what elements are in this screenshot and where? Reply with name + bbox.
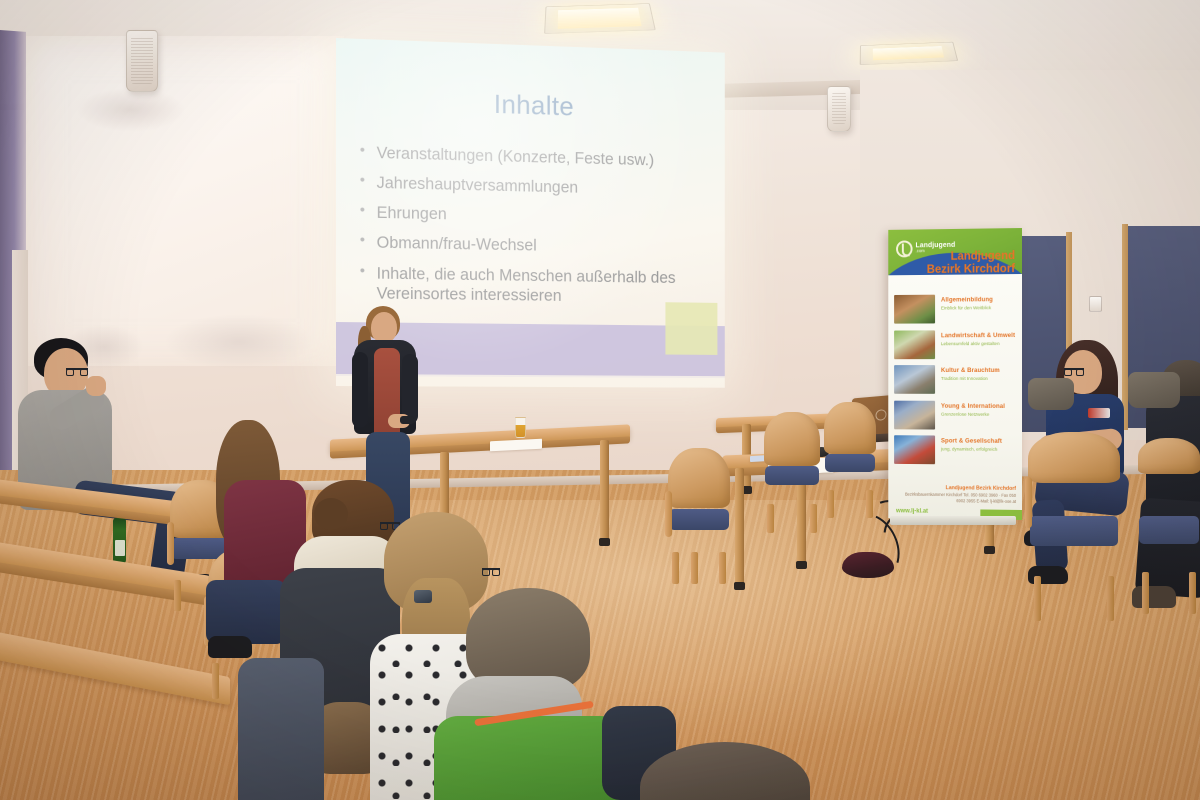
ceiling-light-right bbox=[860, 42, 958, 65]
photo-group-thumb bbox=[894, 400, 935, 429]
chair[interactable] bbox=[668, 448, 730, 556]
chair-legs bbox=[672, 552, 727, 584]
photo-scene: Inhalte Veranstaltungen (Konzerte, Feste… bbox=[0, 0, 1200, 800]
chair[interactable] bbox=[1138, 438, 1200, 578]
slide-bullet: Inhalte, die auch Menschen außerhalb des… bbox=[358, 263, 714, 308]
backpack bbox=[1028, 378, 1074, 410]
chair-back bbox=[1028, 432, 1120, 483]
slide-bullet: Veranstaltungen (Konzerte, Feste usw.) bbox=[358, 143, 714, 172]
light-switch[interactable] bbox=[1089, 296, 1102, 312]
banner-category-row: Allgemeinbildung Einblick für den Weitbl… bbox=[894, 294, 1017, 324]
photo-mountains-thumb bbox=[894, 365, 935, 394]
hair-bun bbox=[314, 498, 348, 530]
light-tube bbox=[873, 46, 944, 60]
glasses-icon bbox=[1064, 368, 1084, 370]
bottom-person-hair bbox=[640, 742, 810, 800]
banner-category-row: Young & International Grenzenlose Netzwe… bbox=[894, 400, 1017, 429]
chair-back bbox=[1138, 438, 1200, 474]
banner-website: www.lj-kl.at bbox=[896, 508, 928, 514]
wall-speaker-right bbox=[827, 86, 851, 132]
slide-bullet: Ehrungen bbox=[358, 203, 714, 230]
chair-back bbox=[764, 412, 820, 466]
banner-category-subtitle: Tradition mit Innovation bbox=[941, 376, 1000, 381]
photo-children-thumb bbox=[894, 295, 935, 324]
banner-category-subtitle: jung, dynamisch, erfolgreich bbox=[941, 447, 1002, 453]
slide-bullet: Jahreshauptversammlungen bbox=[358, 173, 714, 201]
banner-category-subtitle: Grenzenlose Netzwerke bbox=[941, 411, 1005, 417]
chair-arm bbox=[665, 491, 672, 536]
ceiling-light-left bbox=[544, 3, 656, 34]
backpack bbox=[1128, 372, 1180, 408]
chair-legs bbox=[767, 504, 816, 533]
chair-legs bbox=[1142, 572, 1197, 614]
banner-base-stand bbox=[890, 516, 1016, 525]
chair-seat bbox=[1139, 516, 1199, 544]
woman-shoe bbox=[208, 636, 252, 658]
glasses-icon bbox=[66, 368, 88, 370]
banner-footer-address: Bezirksbauernkammer Kirchdorf Tel. 050 6… bbox=[896, 492, 1016, 504]
presenter-top bbox=[374, 348, 400, 444]
slide-bullet: Obmann/frau-Wechsel bbox=[358, 233, 714, 259]
woman-jeans bbox=[206, 580, 286, 644]
grey-coat-on-chair bbox=[238, 658, 324, 800]
presenter-clicker[interactable] bbox=[400, 416, 414, 424]
banner-title: Landjugend Bezirk Kirchdorf bbox=[924, 250, 1015, 277]
chair[interactable] bbox=[764, 412, 820, 508]
chair-seat bbox=[765, 466, 819, 485]
banner-category-heading: Kultur & Brauchtum bbox=[941, 368, 1000, 375]
slide-accent-square bbox=[665, 302, 717, 355]
banner-category-row: Kultur & Brauchtum Tradition mit Innovat… bbox=[894, 365, 1017, 394]
work-table-leg bbox=[735, 468, 744, 584]
rollup-banner: Landjugend .com Landjugend Bezirk Kirchd… bbox=[888, 228, 1022, 520]
chair-legs bbox=[827, 490, 873, 518]
light-tube bbox=[558, 8, 642, 29]
chair-seat bbox=[669, 509, 729, 531]
chair-back bbox=[668, 448, 730, 508]
logo-ring-icon bbox=[896, 240, 913, 257]
presenter-head bbox=[371, 312, 397, 343]
banner-category-row: Sport & Gesellschaft jung, dynamisch, er… bbox=[894, 435, 1017, 465]
presenter-table-leg bbox=[600, 440, 609, 540]
banner-category-heading: Young & International bbox=[941, 403, 1005, 410]
glasses-icon bbox=[482, 568, 500, 570]
banner-category-heading: Allgemeinbildung bbox=[941, 297, 993, 304]
person-bottom bbox=[640, 742, 810, 800]
chair-arm bbox=[167, 522, 174, 566]
banner-title-line2: Bezirk Kirchdorf bbox=[924, 263, 1015, 277]
chair-back bbox=[824, 402, 876, 454]
juice-glass bbox=[515, 417, 526, 438]
chair[interactable] bbox=[824, 402, 876, 494]
chair-seat bbox=[1030, 516, 1118, 546]
banner-category-heading: Landwirtschaft & Umwelt bbox=[941, 333, 1015, 340]
whiteboard bbox=[24, 36, 344, 366]
wall-speaker-left bbox=[126, 30, 158, 92]
banner-category-heading: Sport & Gesellschaft bbox=[941, 438, 1002, 445]
slide-bullet-list: Veranstaltungen (Konzerte, Feste usw.) J… bbox=[358, 143, 714, 317]
banner-footer: Landjugend Bezirk Kirchdorf Bezirksbauer… bbox=[896, 485, 1016, 504]
banner-category-subtitle: Lebensumfeld aktiv gestalten bbox=[941, 341, 1015, 346]
slide-title: Inhalte bbox=[336, 84, 725, 127]
hair-clip[interactable] bbox=[414, 590, 432, 603]
banner-category-row: Landwirtschaft & Umwelt Lebensumfeld akt… bbox=[894, 330, 1017, 359]
chair[interactable] bbox=[1028, 432, 1120, 582]
chair-legs bbox=[1034, 576, 1115, 621]
chair-seat bbox=[825, 454, 875, 472]
chair-arm bbox=[1025, 477, 1032, 528]
banner-category-list: Allgemeinbildung Einblick für den Weitbl… bbox=[894, 294, 1017, 471]
presenter-arm bbox=[352, 352, 368, 428]
photo-cows-thumb bbox=[894, 330, 935, 359]
banner-title-line1: Landjugend bbox=[924, 250, 1015, 264]
polo-logo bbox=[1088, 408, 1110, 418]
photo-sport-thumb bbox=[894, 435, 935, 464]
green-beer-bottle bbox=[113, 518, 126, 564]
man-hand bbox=[86, 376, 106, 396]
green-hoodie bbox=[434, 716, 630, 800]
banner-category-subtitle: Einblick für den Weitblick bbox=[941, 305, 993, 311]
